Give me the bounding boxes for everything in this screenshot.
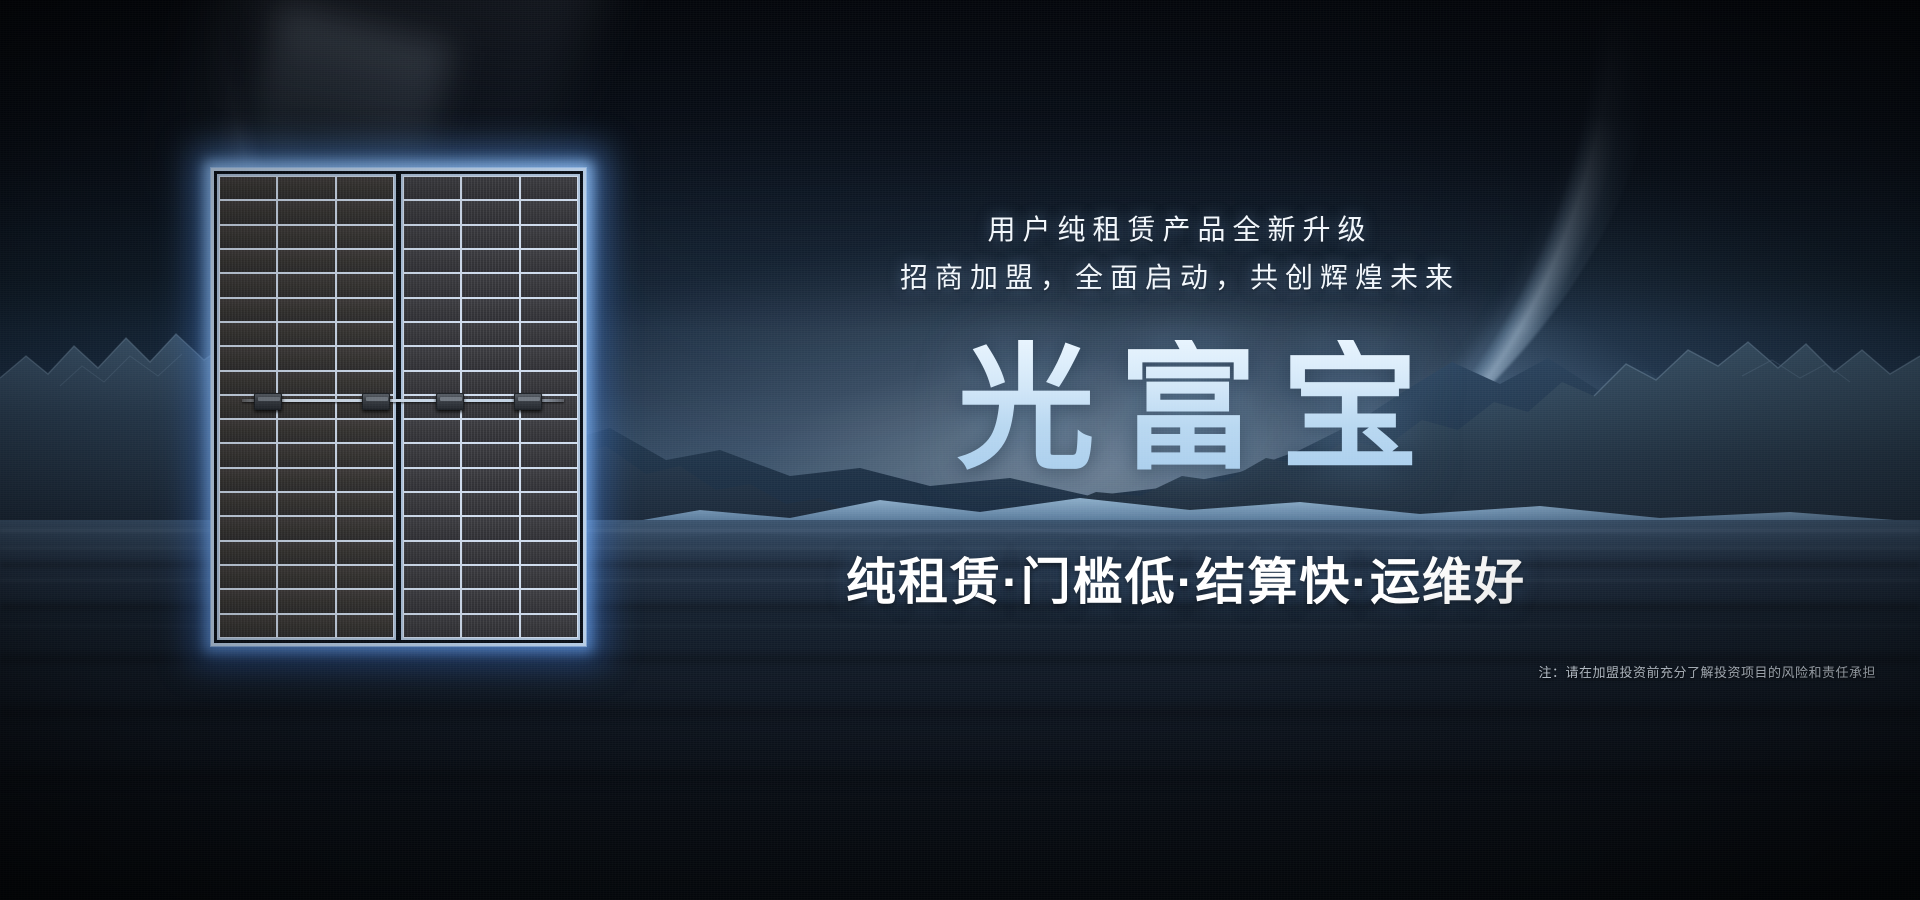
brand-logo-text: 光富宝	[0, 340, 1920, 478]
tagline: 纯租赁·门槛低·结算快·运维好	[0, 542, 1920, 614]
headline-line-1: 用户纯租赁产品全新升级	[0, 208, 1920, 248]
disclaimer-note: 注：请在加盟投资前充分了解投资项目的风险和责任承担	[1538, 662, 1876, 681]
ripple-shadow	[0, 762, 1920, 792]
ripple-shadow	[0, 700, 1920, 724]
headline-line-2: 招商加盟，全面启动，共创辉煌未来	[0, 256, 1920, 296]
promo-banner: 用户纯租赁产品全新升级 招商加盟，全面启动，共创辉煌未来 光富宝 纯租赁·门槛低…	[0, 0, 1920, 900]
